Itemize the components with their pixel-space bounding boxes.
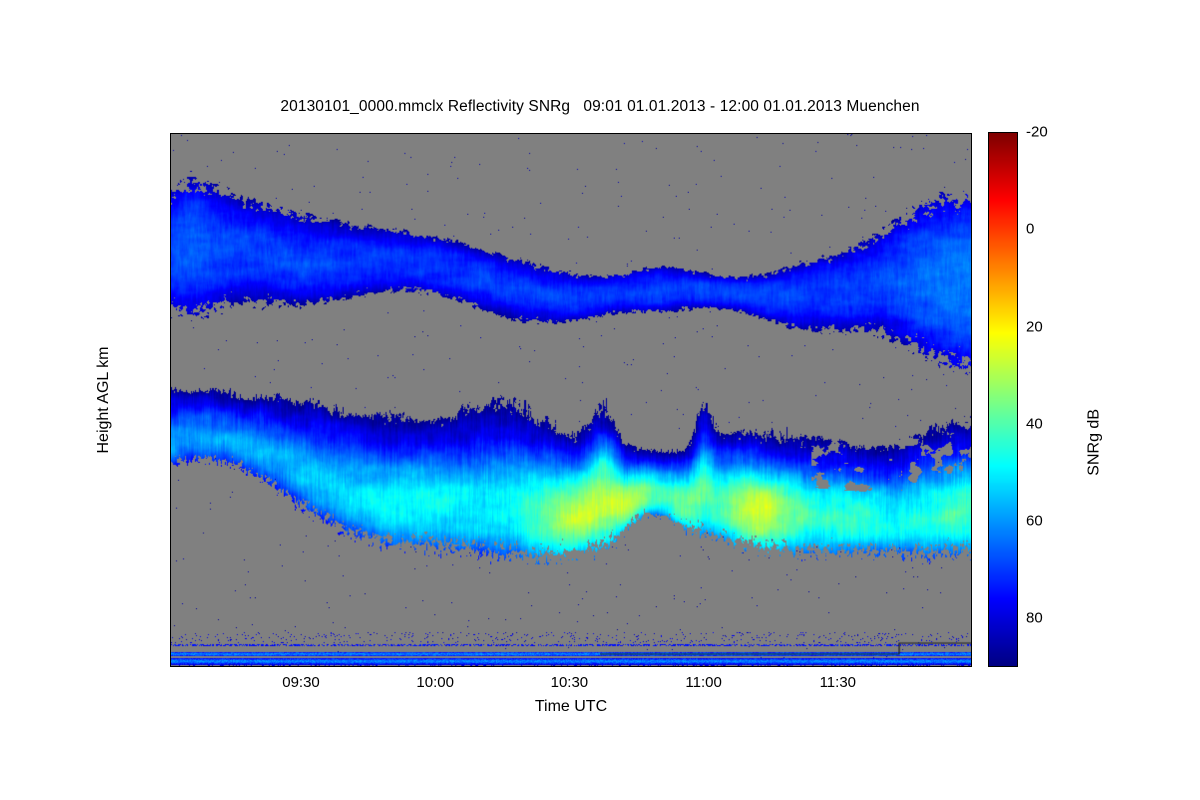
y-axis-tick: [170, 269, 171, 270]
x-axis-tick: [346, 666, 347, 667]
colorbar-tick: [1017, 254, 1018, 255]
x-axis-tick: [525, 133, 526, 134]
colorbar-tick-label: 20: [1026, 318, 1043, 335]
x-axis-tick: [212, 666, 213, 667]
x-axis-tick: [614, 133, 615, 134]
x-axis-tick: [704, 666, 705, 667]
y-axis-tick: [170, 179, 171, 180]
x-axis-tick: [301, 666, 302, 667]
x-axis-tick: [391, 133, 392, 134]
colorbar-tick: [1017, 594, 1018, 595]
x-axis-tick: [793, 666, 794, 667]
figure-root: 20130101_0000.mmclx Reflectivity SNRg 09…: [0, 0, 1200, 800]
colorbar-tick: [1017, 570, 1018, 571]
x-axis-tick: [749, 133, 750, 134]
x-axis-tick: [480, 666, 481, 667]
colorbar-tick: [1017, 230, 1018, 231]
colorbar-tick: [1017, 400, 1018, 401]
x-axis-tick: [346, 133, 347, 134]
x-axis-tick: [883, 133, 884, 134]
x-axis-tick-label: 09:30: [282, 674, 320, 691]
colorbar-label: SNRg dB: [1085, 409, 1103, 476]
x-axis-tick: [525, 666, 526, 667]
y-axis-tick: [170, 450, 171, 451]
colorbar-tick: [1017, 205, 1018, 206]
y-axis-tick: [971, 630, 972, 631]
x-axis-tick: [212, 133, 213, 134]
y-axis-tick: [170, 630, 171, 631]
colorbar-tick: [1017, 376, 1018, 377]
x-axis-tick: [480, 133, 481, 134]
x-axis-tick: [614, 666, 615, 667]
x-axis-tick-label: 10:00: [416, 674, 454, 691]
x-axis-tick: [436, 133, 437, 134]
x-axis-tick: [659, 133, 660, 134]
y-axis-tick: [971, 540, 972, 541]
x-axis-tick: [257, 666, 258, 667]
x-axis-tick: [749, 666, 750, 667]
colorbar-tick: [1017, 157, 1018, 158]
colorbar-tick: [1017, 132, 1018, 133]
y-axis-tick: [170, 315, 171, 316]
y-axis-tick: [971, 585, 972, 586]
y-axis-tick: [971, 450, 972, 451]
x-axis-tick: [257, 133, 258, 134]
x-axis-tick: [570, 666, 571, 667]
x-axis-label: Time UTC: [170, 698, 972, 716]
x-axis-tick-label: 11:30: [820, 674, 856, 691]
y-axis-tick: [170, 495, 171, 496]
x-axis-tick: [436, 666, 437, 667]
colorbar-tick: [1017, 351, 1018, 352]
y-axis-tick: [971, 269, 972, 270]
x-axis-tick-label: 10:30: [551, 674, 589, 691]
colorbar-tick: [1017, 619, 1018, 620]
x-axis-tick: [838, 133, 839, 134]
x-axis-tick-label: 11:00: [685, 674, 721, 691]
x-axis-tick: [793, 133, 794, 134]
colorbar[interactable]: [988, 132, 1018, 667]
y-axis-tick: [971, 224, 972, 225]
x-axis-tick: [928, 133, 929, 134]
colorbar-tick-label: 0: [1026, 221, 1034, 238]
colorbar-tick-label: 80: [1026, 610, 1043, 627]
colorbar-tick: [1017, 327, 1018, 328]
y-axis-tick: [971, 360, 972, 361]
x-axis-tick: [704, 133, 705, 134]
colorbar-tick: [1017, 448, 1018, 449]
colorbar-tick: [1017, 546, 1018, 547]
y-axis-label: Height AGL km: [95, 346, 113, 453]
x-axis-tick: [838, 666, 839, 667]
y-axis-tick: [170, 224, 171, 225]
y-axis-tick: [971, 405, 972, 406]
colorbar-tick: [1017, 521, 1018, 522]
y-axis-tick: [971, 179, 972, 180]
y-axis-tick: [971, 315, 972, 316]
colorbar-tick: [1017, 643, 1018, 644]
page-title: 20130101_0000.mmclx Reflectivity SNRg 09…: [0, 98, 1200, 116]
y-axis-tick: [170, 405, 171, 406]
y-axis-tick: [170, 585, 171, 586]
x-axis-tick: [570, 133, 571, 134]
colorbar-tick-label: -20: [1026, 124, 1048, 141]
colorbar-tick: [1017, 424, 1018, 425]
colorbar-tick-label: 60: [1026, 513, 1043, 530]
colorbar-gradient: [989, 133, 1017, 666]
x-axis-tick: [391, 666, 392, 667]
y-axis-tick: [170, 360, 171, 361]
colorbar-tick: [1017, 181, 1018, 182]
x-axis-tick: [883, 666, 884, 667]
colorbar-tick: [1017, 278, 1018, 279]
x-axis-tick: [928, 666, 929, 667]
colorbar-tick: [1017, 303, 1018, 304]
y-axis-tick: [170, 540, 171, 541]
y-axis-tick: [971, 495, 972, 496]
x-axis-tick: [659, 666, 660, 667]
colorbar-tick-label: 40: [1026, 415, 1043, 432]
radar-heatmap-canvas: [171, 134, 971, 666]
colorbar-tick: [1017, 497, 1018, 498]
colorbar-tick: [1017, 473, 1018, 474]
x-axis-tick: [301, 133, 302, 134]
heatmap-plot-area[interactable]: [170, 133, 972, 667]
